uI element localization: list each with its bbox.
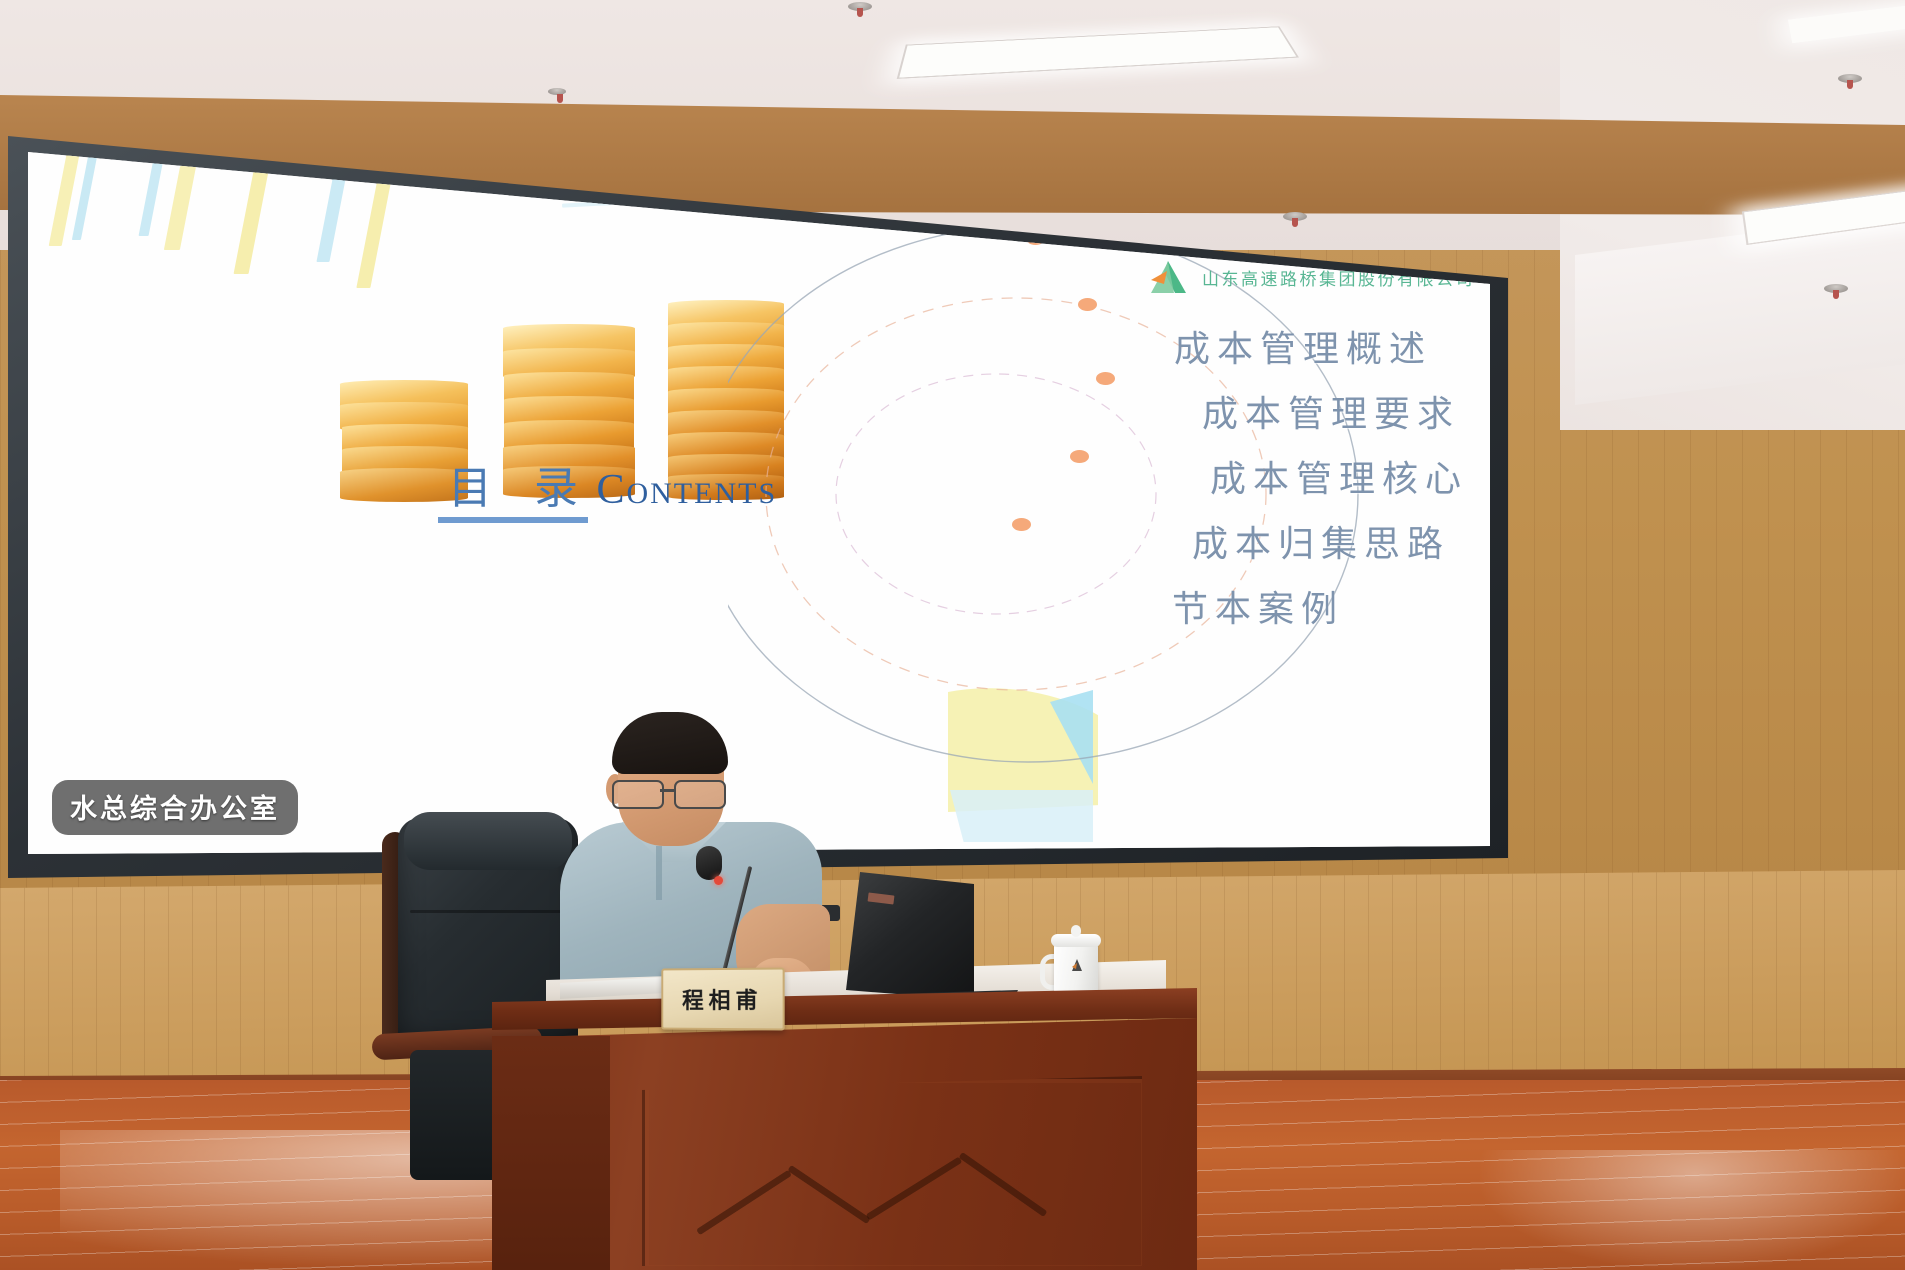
watermark-badge: 水总综合办公室 (52, 780, 298, 835)
mug-logo-icon (1070, 958, 1084, 972)
contents-item-3: 成本管理核心 (1210, 450, 1468, 502)
bullet-dot-5 (1012, 518, 1031, 531)
decor-bar-yellow (356, 168, 393, 288)
microphone-head-icon (696, 846, 722, 880)
contents-item-5: 节本案例 (1172, 580, 1344, 632)
decor-bar-yellow (164, 166, 196, 250)
chair-headrest (404, 812, 572, 870)
ceiling-sprinkler-icon (548, 88, 566, 95)
ceramic-mug (1046, 920, 1106, 998)
slide-title-cn: 目 录 (448, 463, 592, 514)
ceiling-sprinkler-icon (848, 2, 872, 11)
name-plate-text: 程相甫 (682, 983, 763, 1015)
slide-title-underline (438, 517, 588, 523)
presenter-glasses-icon (612, 780, 730, 806)
contents-item-4: 成本归集思路 (1192, 515, 1450, 567)
presenter-placket (656, 846, 662, 900)
slide-title-en-rest: ONTENTS (626, 477, 777, 510)
podium (492, 988, 1197, 1270)
presenter-person (560, 718, 830, 1008)
company-logo-mark-icon (1148, 260, 1192, 294)
ceiling-sprinkler-icon (1824, 284, 1848, 293)
podium-left-face (492, 1036, 610, 1270)
contents-item-1: 成本管理概述 (1174, 320, 1432, 372)
floor-reflection-right (1480, 1150, 1905, 1270)
chair-seam (410, 910, 566, 913)
mug-knob (1071, 925, 1081, 937)
ceiling-sprinkler-icon (1838, 74, 1862, 83)
laptop-lid (846, 872, 974, 1000)
slide-title-group: 目 录 CONTENTS (448, 452, 777, 516)
slide-title-en: CONTENTS (596, 477, 777, 510)
presenter-hair (612, 712, 728, 774)
slide-title-en-cap: C (596, 467, 626, 513)
bullet-dot-2 (1078, 298, 1097, 311)
contents-list: 成本管理概述 成本管理要求 成本管理核心 成本归集思路 节本案例 (1068, 320, 1468, 632)
contents-item-2: 成本管理要求 (1202, 385, 1460, 437)
name-plate: 程相甫 (661, 967, 784, 1030)
microphone-led-indicator (714, 876, 723, 885)
screenshot-root: 山东高速路桥集团股份有限公司 目 录 CONTENTS 成本管理概述 成本管理要… (0, 0, 1905, 1270)
ceiling-sprinkler-icon (1283, 212, 1307, 221)
podium-inset-panel (642, 1076, 1148, 1270)
